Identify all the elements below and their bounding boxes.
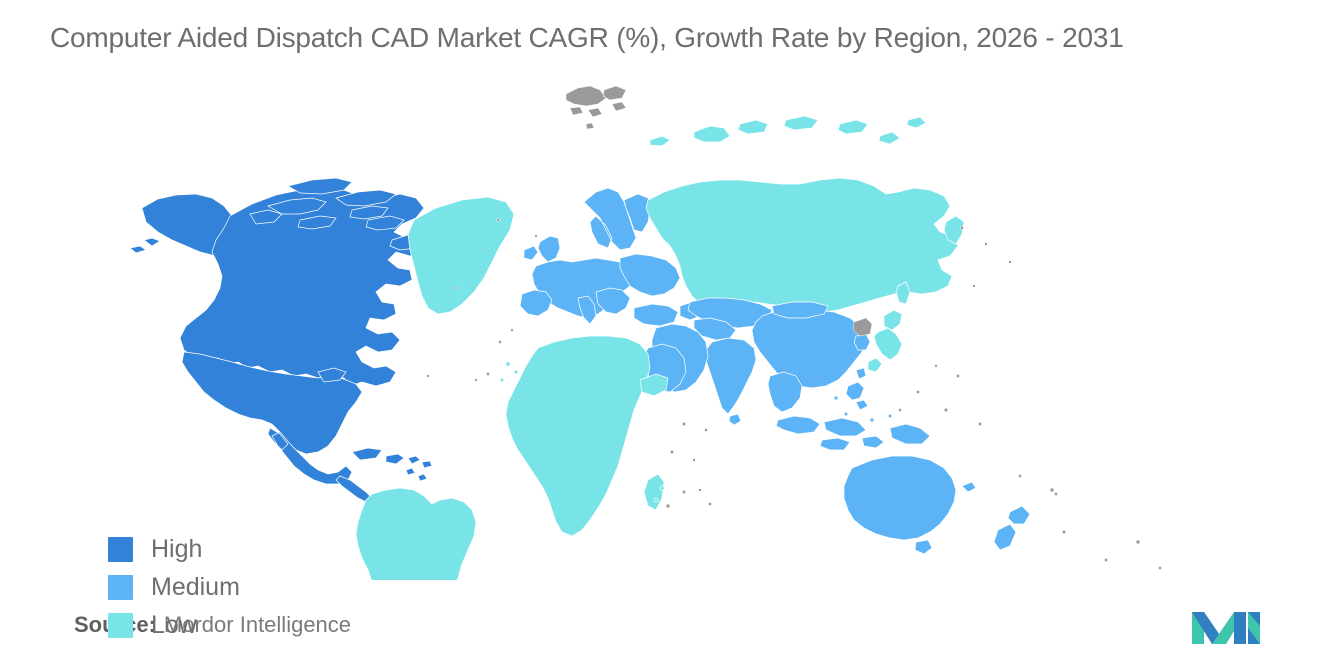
- region-tasmania: [915, 540, 932, 554]
- infographic-page: Computer Aided Dispatch CAD Market CAGR …: [0, 0, 1320, 665]
- page-title: Computer Aided Dispatch CAD Market CAGR …: [50, 18, 1290, 58]
- legend-item-medium[interactable]: Medium: [108, 568, 240, 606]
- region-philippines: [846, 382, 868, 410]
- region-japan: [868, 310, 902, 372]
- region-south-america: [356, 488, 476, 580]
- map-layer-northern-low-arctic: [650, 116, 926, 146]
- region-new-zealand: [994, 506, 1030, 550]
- region-eastern-europe: [620, 254, 680, 296]
- legend-swatch-low: [108, 613, 133, 638]
- world-choropleth-map: .ld-high { fill: #3182d8; stroke: #fffff…: [0, 80, 1320, 580]
- map-legend: High Medium Low: [108, 530, 240, 644]
- region-aleutians: [130, 238, 160, 253]
- region-africa: [506, 336, 650, 536]
- region-new-caledonia: [962, 482, 976, 492]
- region-russia: [646, 178, 958, 312]
- legend-item-low[interactable]: Low: [108, 606, 240, 644]
- region-arctic-islands-russia: [650, 116, 926, 146]
- region-turkey: [634, 304, 678, 326]
- region-indochina: [768, 372, 802, 412]
- legend-label-medium: Medium: [151, 575, 240, 600]
- map-layer-oceania: [844, 456, 1030, 554]
- region-svalbard: [566, 86, 626, 129]
- region-australia: [844, 456, 956, 540]
- region-taiwan: [856, 368, 866, 379]
- region-caribbean-islands: [352, 448, 432, 481]
- region-british-isles: [524, 236, 560, 262]
- region-malaysia-indonesia: [776, 416, 884, 450]
- mordor-intelligence-logo: [1190, 604, 1262, 646]
- region-papua-new-guinea: [890, 424, 930, 444]
- region-greenland: [408, 197, 514, 314]
- region-madagascar: [644, 474, 664, 510]
- region-scandinavia: [584, 188, 636, 250]
- map-layer-south-america: [356, 488, 476, 580]
- legend-label-low: Low: [151, 613, 197, 638]
- region-iberia: [520, 290, 552, 316]
- region-sri-lanka: [729, 414, 741, 425]
- map-layer-north-america: [130, 178, 514, 502]
- legend-item-high[interactable]: High: [108, 530, 240, 568]
- region-central-america: [336, 476, 372, 502]
- legend-swatch-medium: [108, 575, 133, 600]
- legend-swatch-high: [108, 537, 133, 562]
- region-china: [752, 308, 866, 388]
- map-layer-africa: [506, 336, 668, 536]
- legend-label-high: High: [151, 537, 202, 562]
- world-map-svg: .ld-high { fill: #3182d8; stroke: #fffff…: [0, 80, 1320, 580]
- region-india: [706, 338, 756, 414]
